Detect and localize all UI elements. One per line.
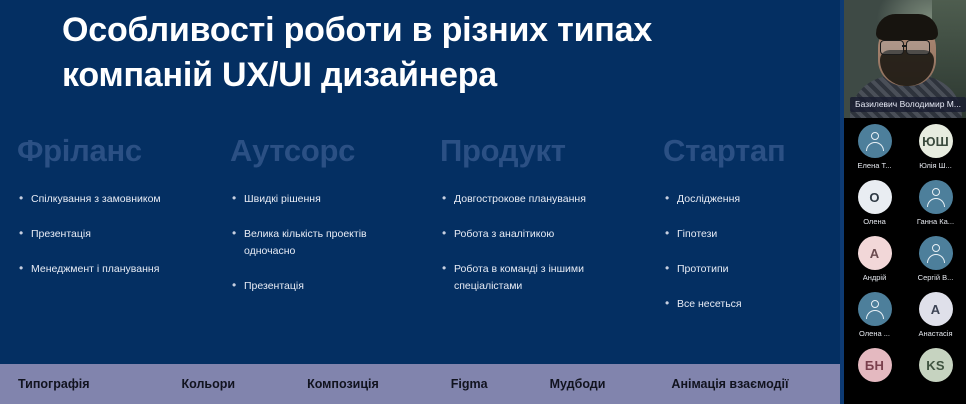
participant-name: Елена Т... [858, 161, 892, 171]
list-item: Велика кількість проектів одночасно [230, 226, 412, 260]
list-item: Робота в команді з іншими спеціалістами [440, 261, 622, 295]
slide-column-startup: Стартап Дослідження Гіпотези Прототипи В… [653, 133, 840, 331]
participant-tile[interactable]: А Андрій [844, 234, 905, 290]
participant-name: Анастасія [918, 329, 952, 339]
list-item: Довгострокове планування [440, 191, 622, 208]
glasses-bridge-icon [902, 45, 907, 47]
participant-name: Олена ... [859, 329, 890, 339]
list-item: Презентація [17, 226, 199, 243]
bottom-bar-item-typography: Типографія [18, 377, 90, 391]
slide-columns: Фріланс Спілкування з замовником Презент… [0, 133, 840, 331]
avatar-initials: БН [865, 358, 884, 373]
participant-tile[interactable]: KS [905, 346, 966, 402]
bottom-bar-item-figma: Figma [451, 377, 488, 391]
avatar [919, 236, 953, 270]
person-avatar-icon [865, 300, 885, 318]
list-item: Швидкі рішення [230, 191, 412, 208]
list-item: Менеджмент і планування [17, 261, 199, 278]
column-bullet-list: Швидкі рішення Велика кількість проектів… [230, 191, 419, 295]
meeting-screen: Особливості роботи в різних типах компан… [0, 0, 966, 404]
participant-grid: Елена Т... ЮШ Юлія Ш... О Олена Ганна Ка… [844, 122, 966, 402]
slide-column-product: Продукт Довгострокове планування Робота … [425, 133, 653, 331]
person-avatar-icon [865, 132, 885, 150]
avatar: А [919, 292, 953, 326]
participant-name: Андрій [863, 273, 887, 283]
list-item: Спілкування з замовником [17, 191, 199, 208]
avatar-initials: А [931, 302, 941, 317]
slide-title-line-1: Особливості роботи в різних типах [62, 8, 822, 53]
column-heading: Фріланс [17, 133, 209, 169]
column-heading: Стартап [663, 133, 834, 169]
list-item: Презентація [230, 278, 412, 295]
list-item: Прототипи [663, 261, 834, 278]
speaker-hair [876, 14, 938, 40]
avatar-initials: ЮШ [922, 134, 949, 149]
participant-tile[interactable]: БН [844, 346, 905, 402]
avatar: KS [919, 348, 953, 382]
column-heading: Аутсорс [230, 133, 419, 169]
avatar-initials: О [869, 190, 879, 205]
column-bullet-list: Спілкування з замовником Презентація Мен… [17, 191, 209, 278]
avatar: А [858, 236, 892, 270]
person-avatar-icon [926, 244, 946, 262]
person-avatar-icon [926, 188, 946, 206]
column-bullet-list: Довгострокове планування Робота з аналіт… [440, 191, 647, 295]
participant-tile[interactable]: Олена ... [844, 290, 905, 346]
slide-bottom-bar: Типографія Кольори Композиція Figma Мудб… [0, 364, 840, 404]
column-bullet-list: Дослідження Гіпотези Прототипи Все несет… [663, 191, 834, 313]
participant-rail[interactable]: Базилевич Володимир М... Елена Т... ЮШ Ю… [840, 0, 966, 404]
bottom-bar-item-colors: Кольори [182, 377, 236, 391]
avatar: ЮШ [919, 124, 953, 158]
slide-column-freelance: Фріланс Спілкування з замовником Презент… [0, 133, 215, 331]
slide-column-outsource: Аутсорс Швидкі рішення Велика кількість … [215, 133, 425, 331]
list-item: Все несеться [663, 296, 834, 313]
participant-name: Олена [863, 217, 886, 227]
glasses-right-lens-icon [906, 40, 930, 55]
bottom-bar-item-animation: Анімація взаємодії [671, 377, 788, 391]
slide-title: Особливості роботи в різних типах компан… [62, 8, 822, 98]
participant-name: Сергій В... [918, 273, 954, 283]
bottom-bar-item-moodboards: Мудбоди [550, 377, 606, 391]
participant-name: Ганна Ка... [917, 217, 954, 227]
glasses-left-lens-icon [880, 40, 904, 55]
slide-title-line-2: компаній UX/UI дизайнера [62, 53, 822, 98]
active-speaker-tile[interactable]: Базилевич Володимир М... [844, 0, 966, 118]
avatar [919, 180, 953, 214]
bottom-bar-item-composition: Композиція [307, 377, 379, 391]
shared-slide: Особливості роботи в різних типах компан… [0, 0, 840, 404]
speaker-name-label: Базилевич Володимир М... [850, 97, 966, 112]
participant-tile[interactable]: О Олена [844, 178, 905, 234]
participant-name: Юлія Ш... [919, 161, 952, 171]
avatar: О [858, 180, 892, 214]
avatar-initials: А [870, 246, 880, 261]
avatar [858, 292, 892, 326]
avatar: БН [858, 348, 892, 382]
list-item: Дослідження [663, 191, 834, 208]
participant-tile[interactable]: А Анастасія [905, 290, 966, 346]
list-item: Гіпотези [663, 226, 834, 243]
avatar-initials: KS [926, 358, 944, 373]
participant-tile[interactable]: Елена Т... [844, 122, 905, 178]
avatar [858, 124, 892, 158]
participant-tile[interactable]: Ганна Ка... [905, 178, 966, 234]
column-heading: Продукт [440, 133, 647, 169]
participant-tile[interactable]: ЮШ Юлія Ш... [905, 122, 966, 178]
participant-tile[interactable]: Сергій В... [905, 234, 966, 290]
list-item: Робота з аналітикою [440, 226, 622, 243]
